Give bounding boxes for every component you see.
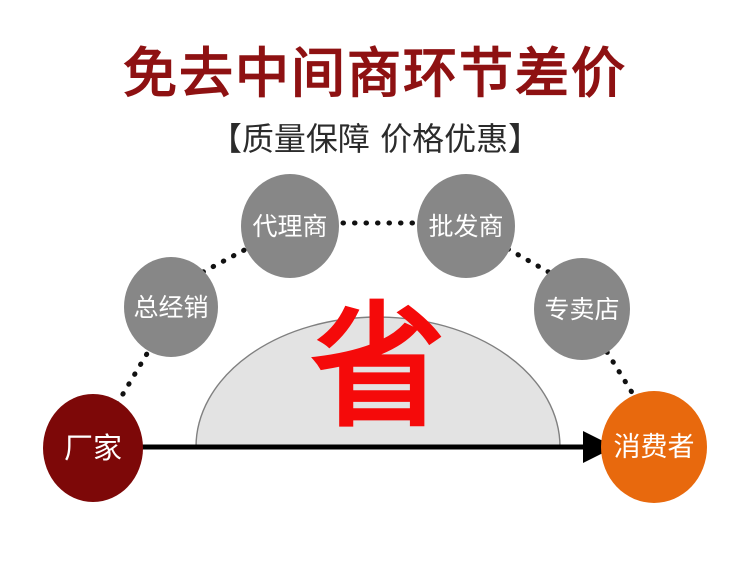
savings-character: 省	[278, 300, 478, 435]
node-consumer[interactable]: 消费者	[601, 391, 707, 503]
promo-banner: 免去中间商环节差价 【质量保障 价格优惠】 省 厂家 总经销 代理商 批发商 专…	[0, 0, 750, 563]
connector-store-consumer	[607, 352, 636, 399]
node-consumer-label: 消费者	[614, 434, 695, 461]
node-general-distributor[interactable]: 总经销	[124, 257, 218, 357]
node-agent-label: 代理商	[252, 214, 327, 239]
connector-distributor-agent	[203, 247, 250, 272]
connector-wholesaler-store	[508, 249, 552, 274]
node-wholesaler[interactable]: 批发商	[417, 174, 515, 278]
node-agent[interactable]: 代理商	[241, 174, 339, 278]
connector-manufacturer-distributor	[117, 352, 148, 404]
node-manufacturer[interactable]: 厂家	[43, 394, 143, 502]
node-wholesaler-label: 批发商	[428, 214, 503, 239]
node-specialty-store[interactable]: 专卖店	[534, 258, 630, 360]
node-general-distributor-label: 总经销	[133, 295, 208, 320]
node-manufacturer-label: 厂家	[64, 434, 122, 463]
node-specialty-store-label: 专卖店	[544, 297, 619, 322]
